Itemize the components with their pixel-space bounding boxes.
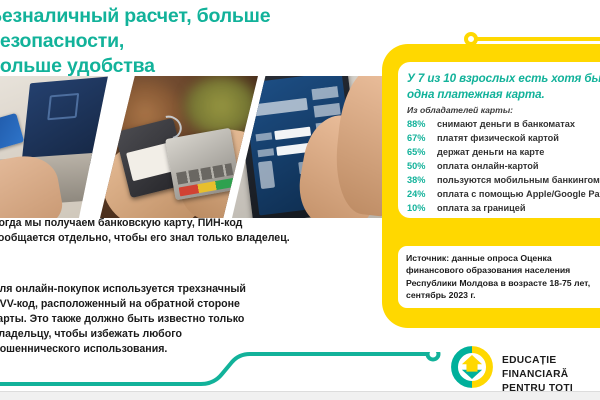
username-field: [275, 127, 311, 141]
stat-label: оплата с помощью Apple/Google Pay: [437, 188, 600, 202]
stat-percent: 10%: [407, 202, 437, 216]
page-title: Безналичный расчет, больше безопасности,…: [0, 4, 408, 79]
stat-percent: 24%: [407, 188, 437, 202]
body-paragraph-cvv: Для онлайн-покупок используется трехзнач…: [0, 282, 342, 357]
slide-canvas: Безналичный расчет, больше безопасности,…: [0, 0, 600, 400]
bank-card: [0, 113, 24, 155]
teal-connector-line: [0, 352, 506, 392]
stat-label: пользуются мобильным банкингом: [437, 174, 600, 188]
stats-list: 88% снимают деньги в банкоматах 67% плат…: [407, 118, 600, 216]
username-label: [255, 133, 272, 142]
lock-icon: [258, 161, 275, 189]
stat-percent: 88%: [407, 118, 437, 132]
body-paragraph-pin: Когда мы получаем банковскую карту, ПИН-…: [0, 216, 342, 246]
yellow-connector-line: [470, 37, 600, 41]
stat-label: держат деньги на карте: [437, 146, 544, 160]
stat-percent: 50%: [407, 160, 437, 174]
password-label: [257, 149, 274, 158]
educatie-financiara-logo-icon: [449, 344, 495, 390]
internet-banking-tablet-photo: [232, 76, 384, 218]
stat-label: снимают деньги в банкоматах: [437, 118, 575, 132]
list-item: 50% оплата онлайн-картой: [407, 160, 600, 174]
list-item: 67% платят физической картой: [407, 132, 600, 146]
stat-label: оплата онлайн-картой: [437, 160, 538, 174]
list-item: 88% снимают деньги в банкоматах: [407, 118, 600, 132]
pos-terminal: [165, 128, 241, 201]
contactless-payment-photo: [100, 76, 258, 218]
list-item: 24% оплата с помощью Apple/Google Pay: [407, 188, 600, 202]
list-item: 65% держат деньги на карте: [407, 146, 600, 160]
stats-title: У 7 из 10 взрослых есть хотя бы одна пла…: [407, 71, 600, 102]
source-card: Источник: данные опроса Оценка финансово…: [398, 246, 600, 308]
stats-subtitle: Из обладателей карты:: [407, 105, 600, 115]
list-item: 10% оплата за границей: [407, 202, 600, 216]
photo-strip: [0, 86, 360, 208]
laptop-card-photo: [0, 76, 108, 218]
stat-label: платят физической картой: [437, 132, 559, 146]
stats-card: У 7 из 10 взрослых есть хотя бы одна пла…: [398, 62, 600, 218]
page-bottom-edge: [0, 391, 600, 400]
stat-percent: 67%: [407, 132, 437, 146]
stat-percent: 38%: [407, 174, 437, 188]
logo-text: EDUCAȚIE FINANCIARĂ PENTRU TOȚI: [502, 354, 600, 396]
list-item: 38% пользуются мобильным банкингом: [407, 174, 600, 188]
stat-label: оплата за границей: [437, 202, 526, 216]
stat-percent: 65%: [407, 146, 437, 160]
source-text: Источник: данные опроса Оценка финансово…: [406, 252, 600, 301]
background-blur-right: [185, 76, 258, 136]
internet-banking-title: [252, 98, 308, 117]
teal-connector-dot-icon: [428, 352, 439, 360]
